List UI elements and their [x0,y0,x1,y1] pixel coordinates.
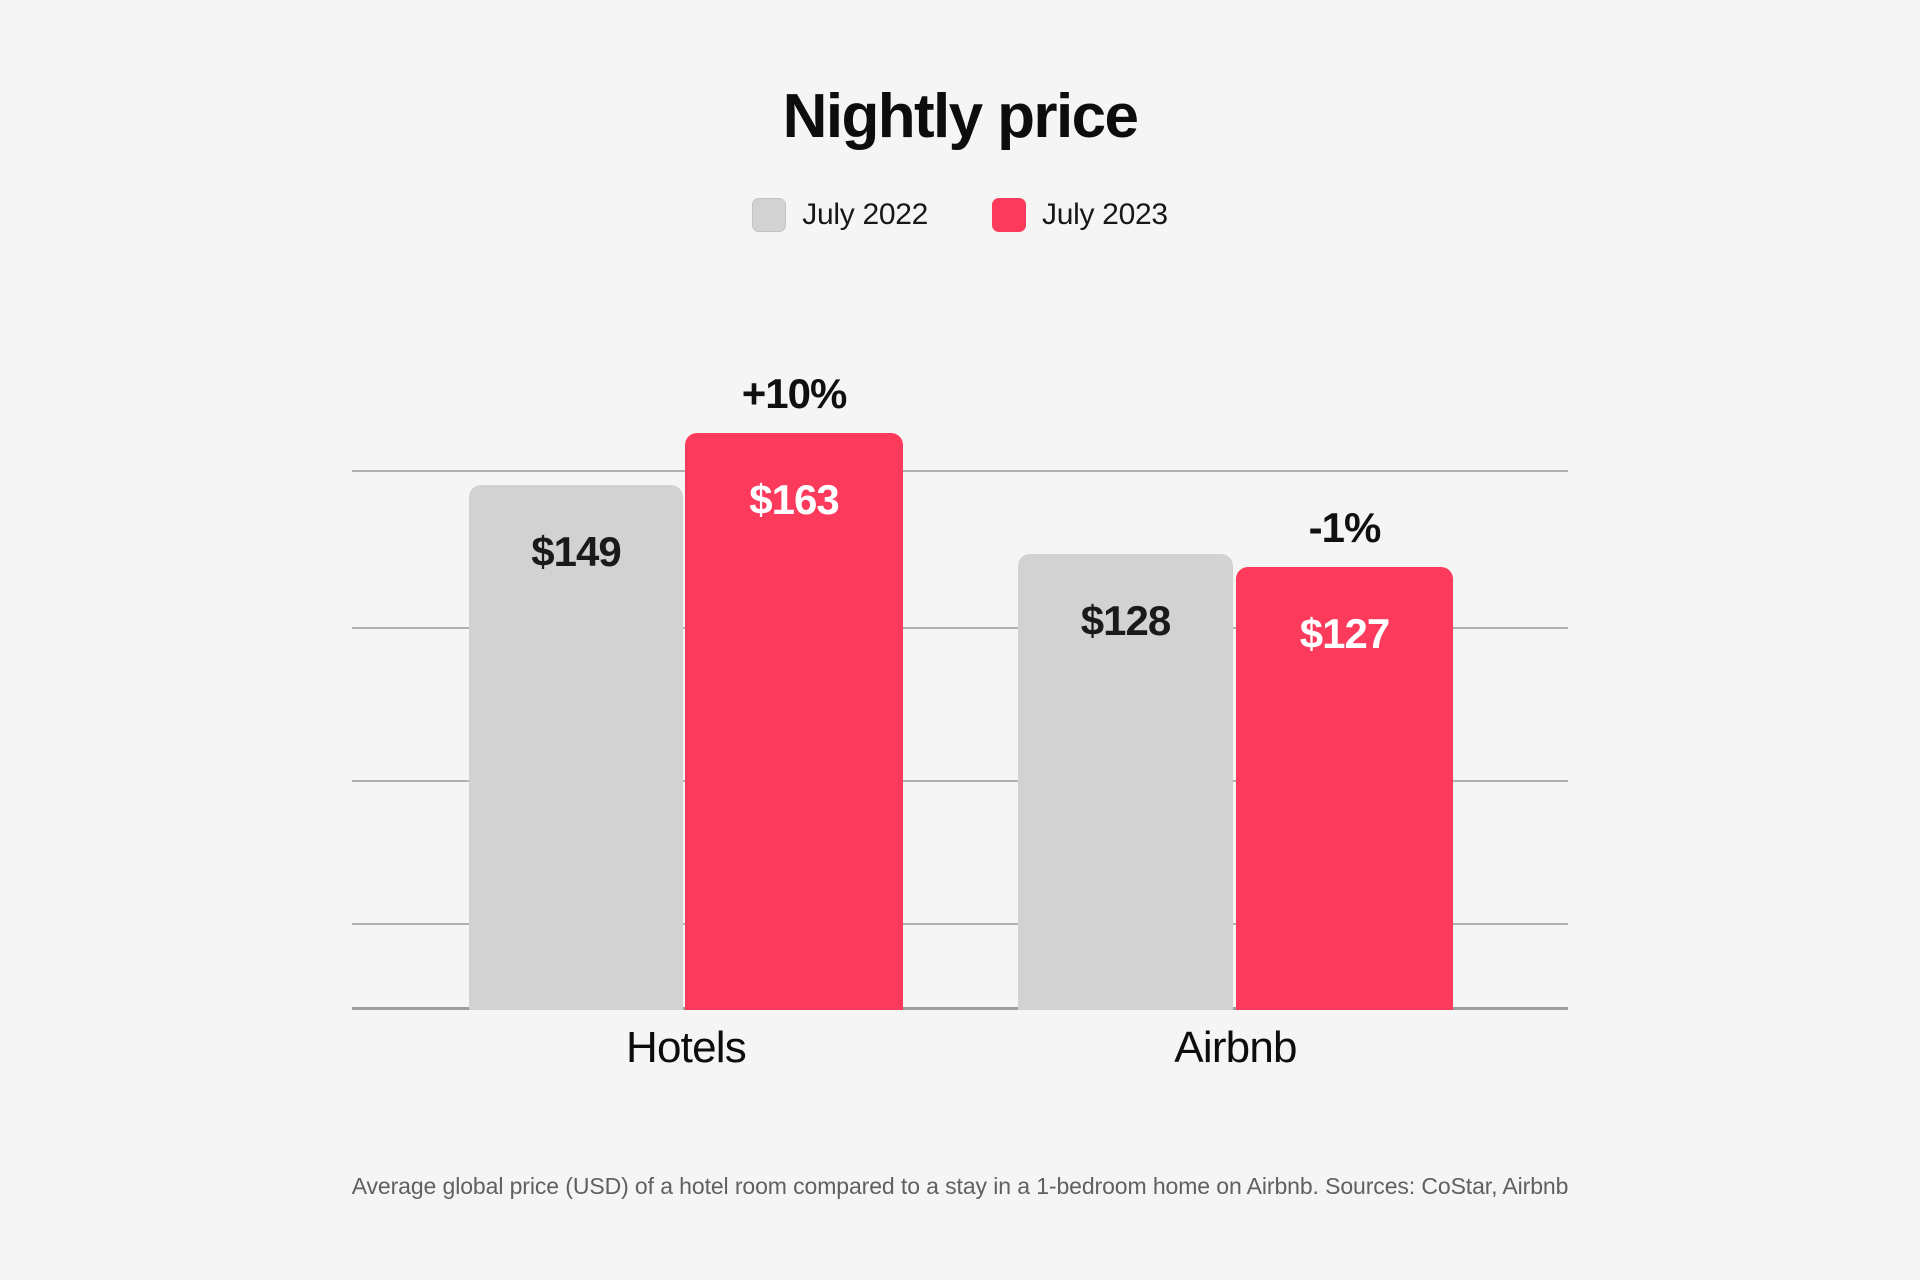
legend-label-july-2022: July 2022 [802,200,928,230]
bar-airbnb-july-2022[interactable]: $128 [1018,554,1233,1010]
legend-swatch-red-icon [992,198,1026,232]
delta-annotation-hotels: +10% [685,373,903,415]
legend-item-july-2022[interactable]: July 2022 [752,198,928,232]
legend-label-july-2023: July 2023 [1042,200,1168,230]
chart-footnote: Average global price (USD) of a hotel ro… [0,1172,1920,1202]
bar-value-label: $128 [1018,600,1233,642]
legend-item-july-2023[interactable]: July 2023 [992,198,1168,232]
bar-hotels-july-2022[interactable]: $149 [469,485,683,1010]
category-label-airbnb: Airbnb [1018,1026,1453,1070]
chart-legend: July 2022 July 2023 [0,198,1920,232]
page-title: Nightly price [0,86,1920,148]
chart-root: Nightly price July 2022 July 2023 $149 $… [0,0,1920,1280]
legend-swatch-gray-icon [752,198,786,232]
bar-value-label: $163 [685,479,903,521]
bar-value-label: $149 [469,531,683,573]
bar-airbnb-july-2023[interactable]: $127 [1236,567,1453,1010]
category-label-hotels: Hotels [469,1026,903,1070]
category-axis-labels: Hotels Airbnb [352,1026,1568,1096]
plot-area: $149 $163 $128 $127 +10% -1% [352,430,1568,1010]
delta-annotation-airbnb: -1% [1236,507,1453,549]
bar-hotels-july-2023[interactable]: $163 [685,433,903,1010]
bar-value-label: $127 [1236,613,1453,655]
